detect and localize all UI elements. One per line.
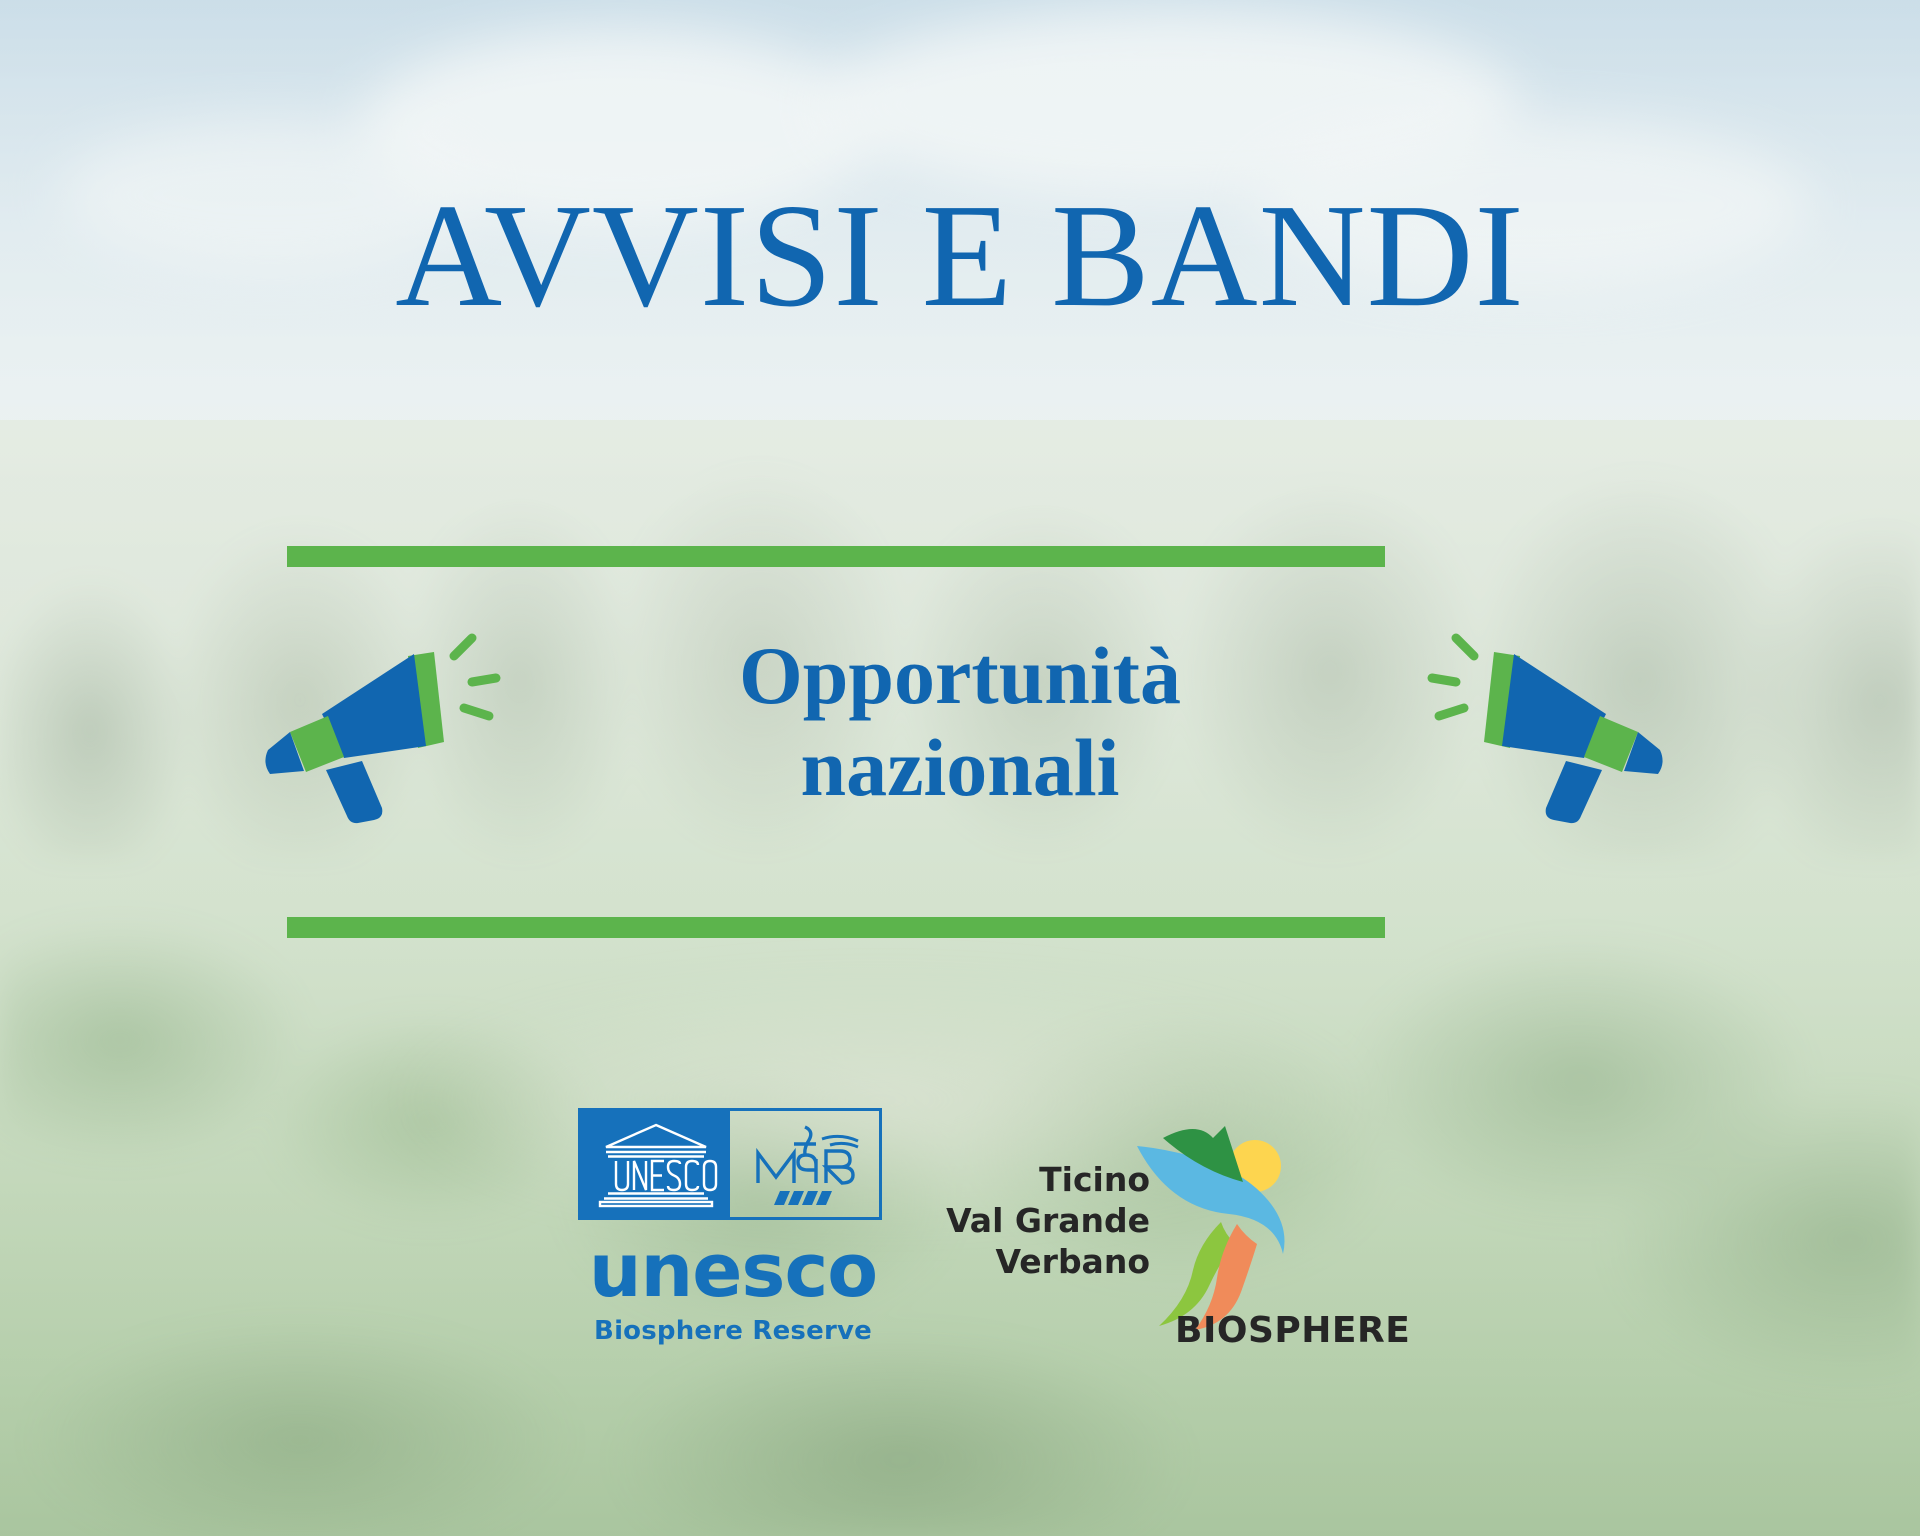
unesco-temple-panel — [581, 1111, 730, 1217]
ticino-line-2: Val Grande — [940, 1201, 1150, 1242]
biosphere-label: BIOSPHERE — [1175, 1310, 1410, 1351]
ticino-val-grande-verbano-logo: Ticino Val Grande Verbano BIOSPHERE — [940, 1124, 1360, 1354]
poster-content: AVVISI E BANDI — [0, 0, 1920, 1536]
biosphere-emblem-icon — [1125, 1104, 1310, 1334]
ticino-name-block: Ticino Val Grande Verbano — [940, 1160, 1150, 1283]
megaphone-icon — [1390, 630, 1670, 845]
page-title: AVVISI E BANDI — [0, 182, 1920, 330]
poster-subtitle: Opportunità nazionali — [560, 630, 1360, 814]
logo-row: unesco Biosphere Reserve Ticino Val Gran… — [0, 1108, 1920, 1358]
unesco-logo: unesco Biosphere Reserve — [578, 1108, 888, 1346]
unesco-tagline: Biosphere Reserve — [578, 1316, 888, 1346]
ticino-line-3: Verbano — [940, 1242, 1150, 1283]
unesco-wordmark: unesco — [578, 1234, 888, 1308]
mab-icon — [746, 1121, 864, 1207]
megaphone-icon — [258, 630, 538, 845]
unesco-emblem-box — [578, 1108, 882, 1220]
poster: AVVISI E BANDI — [0, 0, 1920, 1536]
divider-bottom — [287, 917, 1385, 938]
ticino-line-1: Ticino — [940, 1160, 1150, 1201]
subtitle-line-2: nazionali — [560, 722, 1360, 814]
subtitle-line-1: Opportunità — [560, 630, 1360, 722]
divider-top — [287, 546, 1385, 567]
mab-panel — [730, 1111, 879, 1217]
unesco-temple-icon — [594, 1120, 718, 1208]
